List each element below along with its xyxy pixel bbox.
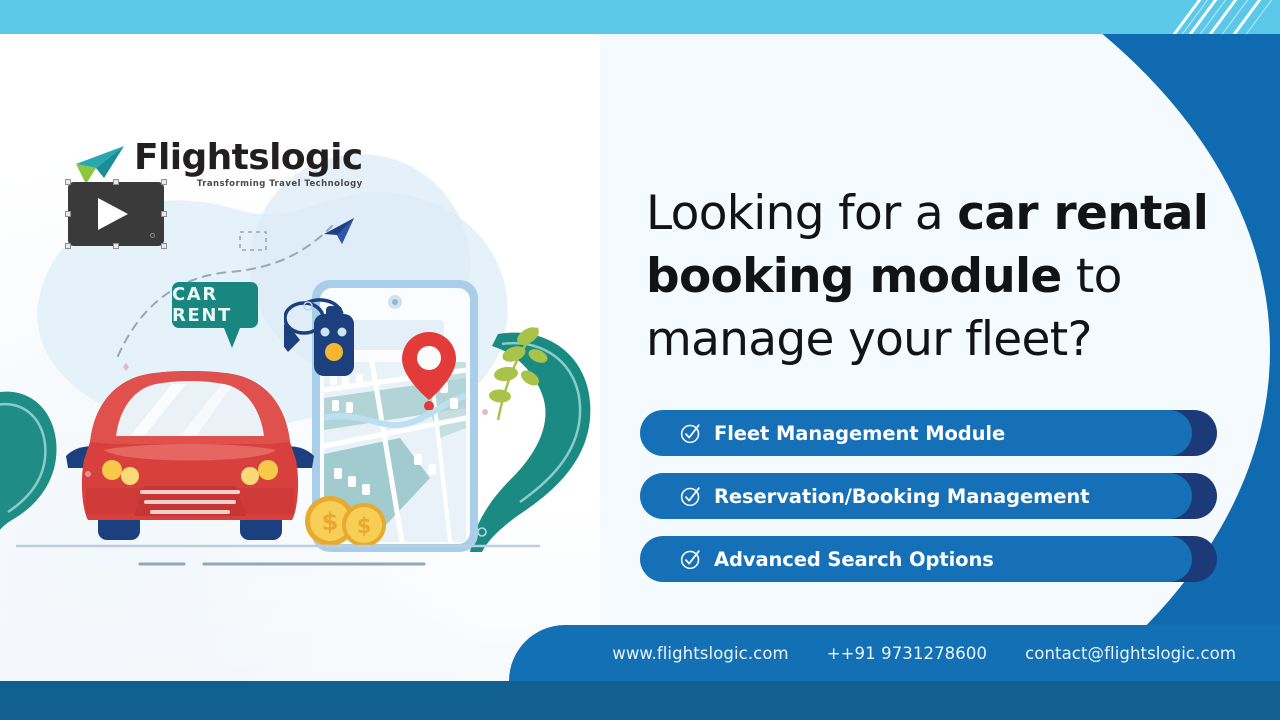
bottom-strip [0,681,1280,720]
resize-handle-middle-right[interactable] [161,211,167,217]
check-circle-icon [680,485,702,507]
banner-canvas: CAR RENT [0,0,1280,720]
resize-handle-bottom-right[interactable] [161,243,167,249]
check-circle-icon [680,422,702,444]
feature-label: Fleet Management Module [714,422,1005,445]
resize-handle-top-right[interactable] [161,179,167,185]
brand-name: Flightslogic [134,138,363,178]
footer-website[interactable]: www.flightslogic.com [612,644,788,663]
logo-text-block: Flightslogic Transforming Travel Technol… [134,138,363,189]
video-play-overlay[interactable] [68,182,164,246]
pill-body[interactable]: Reservation/Booking Management [640,473,1192,519]
footer-email[interactable]: contact@flightslogic.com [1025,644,1236,663]
resize-handle-bottom-left[interactable] [65,243,71,249]
feature-label: Reservation/Booking Management [714,485,1089,508]
pill-body[interactable]: Fleet Management Module [640,410,1192,456]
contact-footer-bar: www.flightslogic.com ++91 9731278600 con… [509,625,1280,681]
paper-plane-marker-icon [322,216,356,246]
resize-handle-top-center[interactable] [113,179,119,185]
pill-body[interactable]: Advanced Search Options [640,536,1192,582]
illustration-panel: CAR RENT [0,34,600,681]
check-circle-icon [680,548,702,570]
diagonal-stripes-icon [1160,0,1280,34]
play-triangle-icon[interactable] [98,198,128,230]
decorative-sparkles [40,284,560,554]
resize-handle-middle-left[interactable] [65,211,71,217]
resize-handle-top-left[interactable] [65,179,71,185]
resize-handle-bottom-center[interactable] [113,243,119,249]
headline-part-1: Looking for a [646,186,957,241]
top-accent-bar [0,0,1280,34]
footer-phone[interactable]: ++91 9731278600 [827,644,987,663]
page-title: Looking for a car rental booking module … [646,182,1236,371]
feature-label: Advanced Search Options [714,548,994,571]
brand-tagline: Transforming Travel Technology [134,179,363,189]
record-dot-icon [150,233,155,238]
